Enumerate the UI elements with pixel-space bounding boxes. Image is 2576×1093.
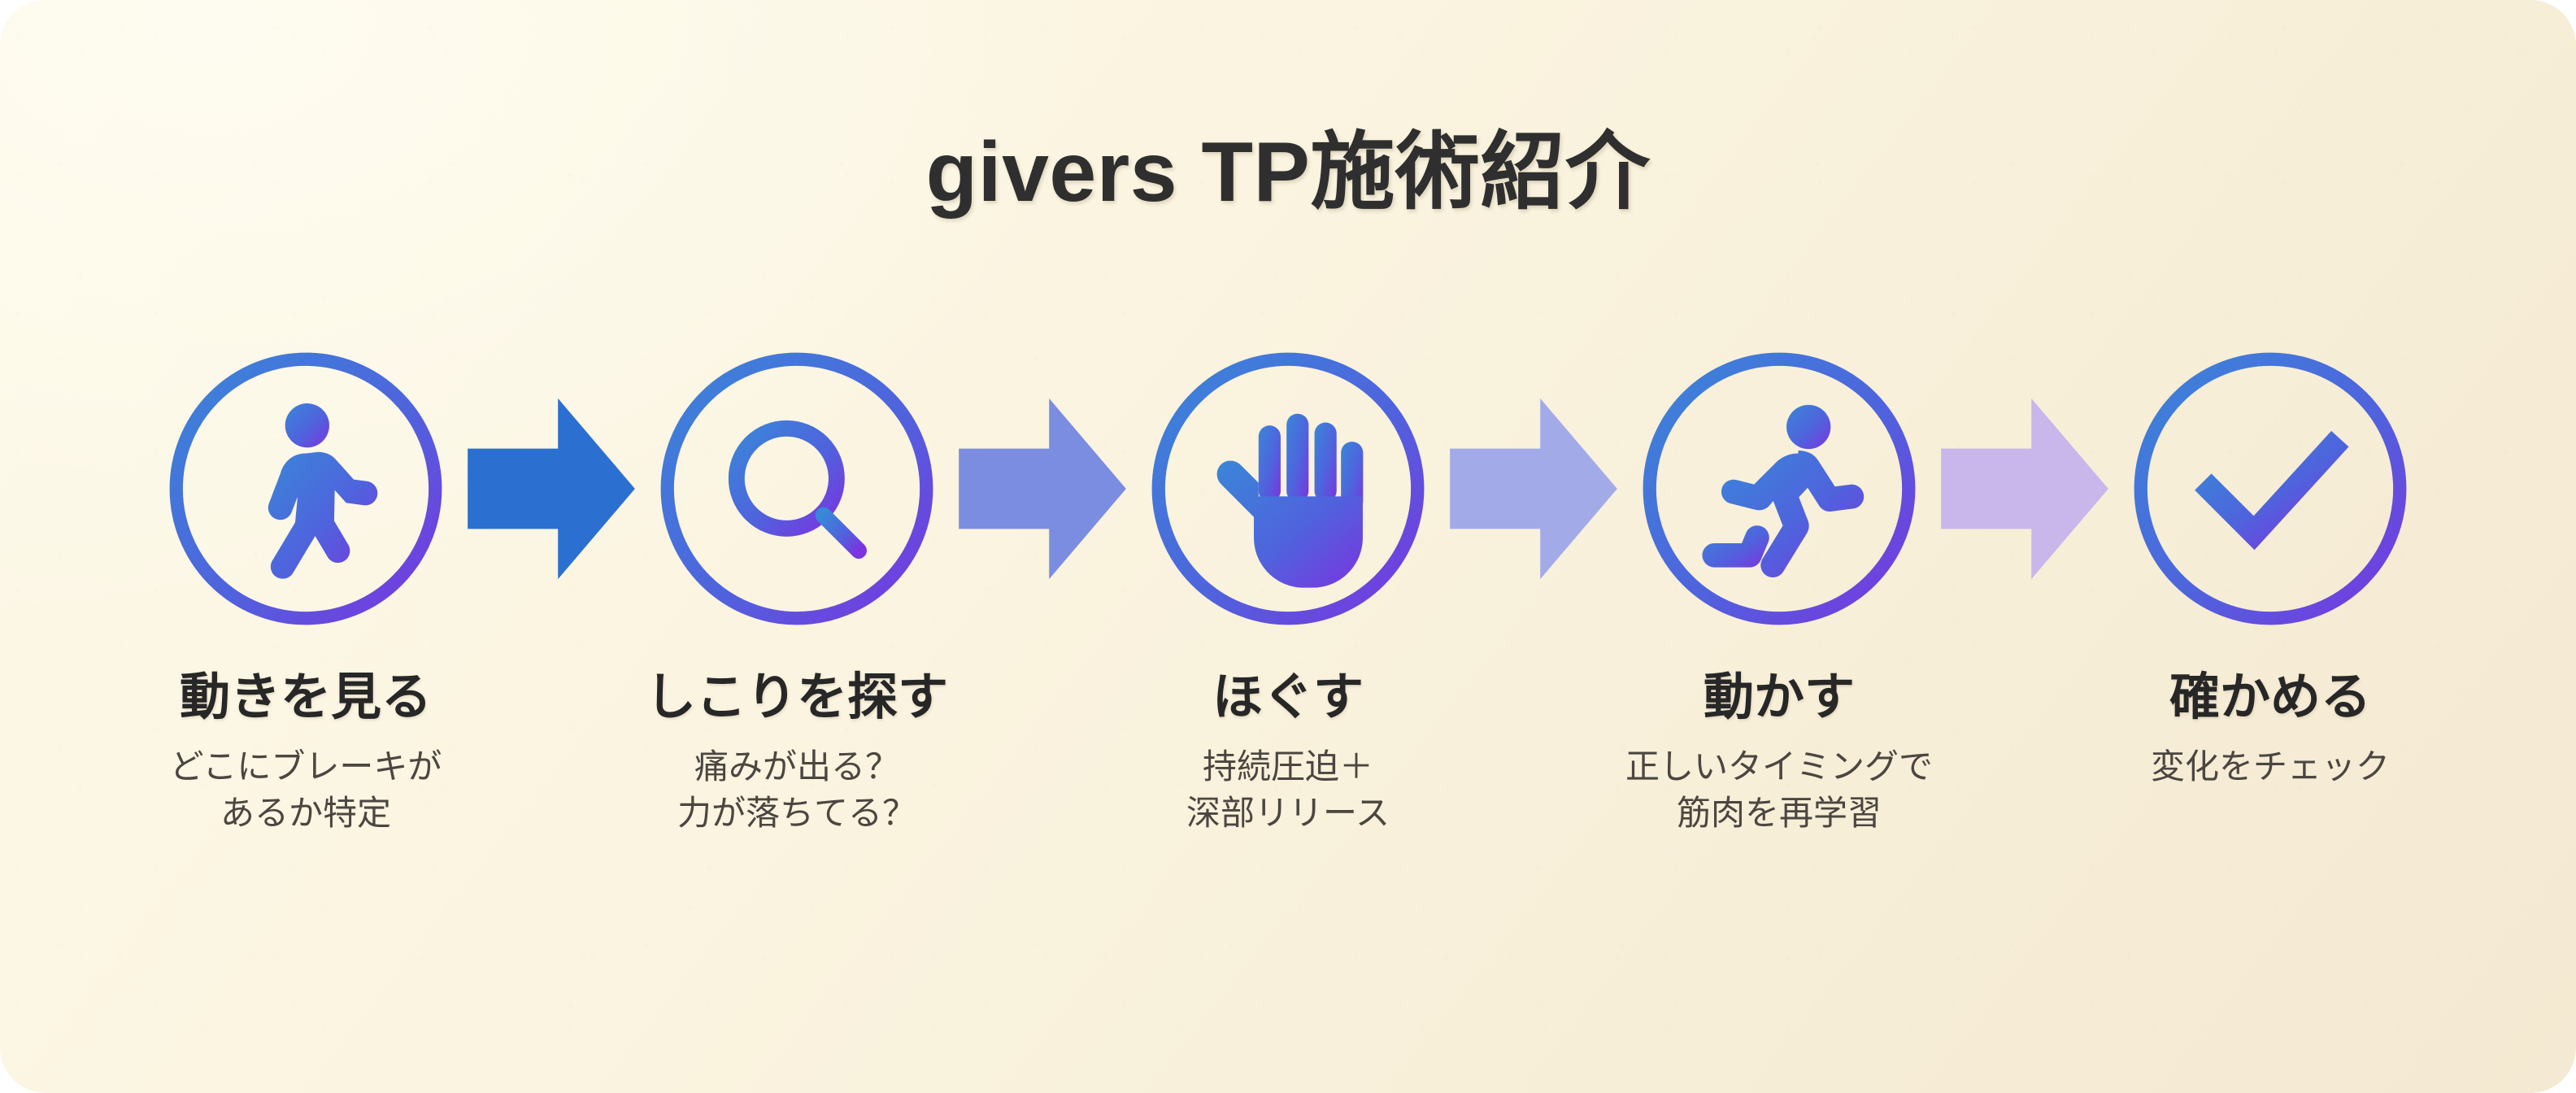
step-description: 変化をチェック xyxy=(2151,743,2390,790)
icon-circle-5 xyxy=(2123,342,2417,636)
step-description: どこにブレーキが あるか特定 xyxy=(170,743,442,836)
icon-circle-3 xyxy=(1141,342,1435,636)
process-flow: 動きを見る どこにブレーキが あるか特定 xyxy=(124,342,2452,836)
infographic-poster: givers TP施術紹介 動きを見る xyxy=(0,0,2576,1093)
step-label: ほぐす xyxy=(1212,670,1364,725)
icon-circle-1 xyxy=(159,342,453,636)
flow-step-3: ほぐす 持続圧迫＋ 深部リリース xyxy=(1106,342,1470,836)
flow-step-4: 動かす 正しいタイミングで 筋肉を再学習 xyxy=(1597,342,1961,836)
page-title: givers TP施術紹介 xyxy=(0,102,2576,225)
step-label: しこりを探す xyxy=(646,670,948,725)
flow-arrow-2 xyxy=(959,342,1126,636)
magnifier-icon xyxy=(737,429,859,551)
check-mark-icon xyxy=(2212,447,2332,533)
running-person-icon xyxy=(1703,405,1865,577)
step-description: 持続圧迫＋ 深部リリース xyxy=(1186,743,1390,836)
icon-circle-4 xyxy=(1632,342,1926,636)
step-label: 動かす xyxy=(1704,670,1855,725)
step-description: 正しいタイミングで 筋肉を再学習 xyxy=(1625,743,1933,836)
flow-step-5: 確かめる 変化をチェック xyxy=(2088,342,2452,790)
flow-arrow-4 xyxy=(1941,342,2108,636)
step-label: 動きを見る xyxy=(180,670,432,725)
flow-arrow-3 xyxy=(1450,342,1617,636)
step-description: 痛みが出る？ 力が落ちてる？ xyxy=(677,743,916,836)
flow-step-2: しこりを探す 痛みが出る？ 力が落ちてる？ xyxy=(615,342,979,836)
open-hand-icon xyxy=(1217,414,1364,588)
step-label: 確かめる xyxy=(2169,670,2371,725)
flow-step-1: 動きを見る どこにブレーキが あるか特定 xyxy=(124,342,488,836)
flow-arrow-1 xyxy=(468,342,635,636)
icon-circle-2 xyxy=(650,342,944,636)
walking-person-icon xyxy=(268,403,377,579)
